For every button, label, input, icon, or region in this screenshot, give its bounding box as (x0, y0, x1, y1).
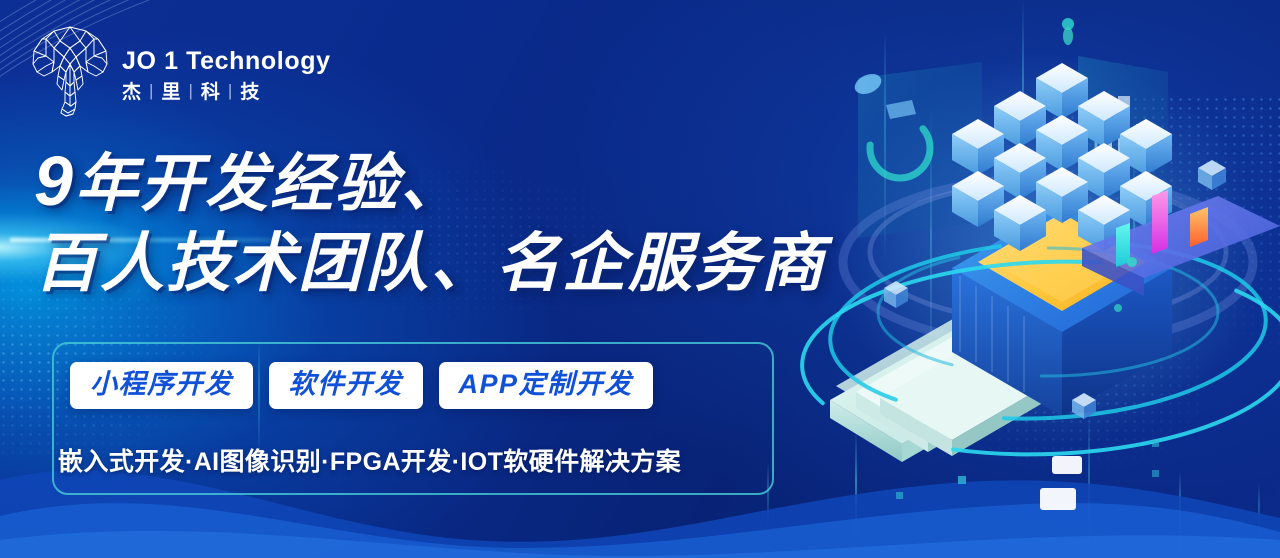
service-tag-label: 小程序开发 (90, 371, 233, 398)
brand-logo[interactable]: JO 1 Technology 杰 | 里 | 科 | 技 (24, 14, 331, 118)
headline-line-2: 百人技术团队、名企服务商 (34, 231, 826, 295)
headline-number: 9 (34, 142, 75, 220)
service-tag-list: 小程序开发 软件开发 APP定制开发 (70, 362, 653, 409)
service-tag-app[interactable]: APP定制开发 (439, 362, 653, 409)
service-tag-miniprogram[interactable]: 小程序开发 (70, 362, 253, 409)
brand-cn-sep-3: | (228, 81, 233, 101)
promo-banner: JO 1 Technology 杰 | 里 | 科 | 技 9年开发经验、 百人… (0, 0, 1280, 558)
service-tag-label: 软件开发 (289, 371, 403, 398)
elephant-polygon-logo-icon (24, 14, 116, 118)
brand-cn-sep-1: | (149, 81, 154, 101)
brand-cn-char-4: 技 (240, 77, 260, 104)
brand-name-cn: 杰 | 里 | 科 | 技 (122, 77, 331, 104)
brand-text: JO 1 Technology 杰 | 里 | 科 | 技 (122, 48, 331, 104)
hero-illustration (800, 0, 1280, 558)
headline-line-1: 9年开发经验、 (34, 146, 826, 216)
brand-name-en: JO 1 Technology (122, 48, 331, 74)
brand-cn-sep-2: | (188, 81, 193, 101)
brand-cn-char-2: 里 (161, 77, 181, 104)
brand-cn-char-3: 科 (201, 77, 221, 104)
service-subline: 嵌入式开发·AI图像识别·FPGA开发·IOT软硬件解决方案 (58, 442, 681, 478)
headline-block: 9年开发经验、 百人技术团队、名企服务商 (34, 146, 826, 295)
headline-line-1-rest: 年开发经验、 (75, 149, 465, 219)
service-tag-label: APP定制开发 (459, 371, 633, 398)
service-tag-software[interactable]: 软件开发 (269, 362, 423, 409)
brand-cn-char-1: 杰 (122, 77, 142, 104)
